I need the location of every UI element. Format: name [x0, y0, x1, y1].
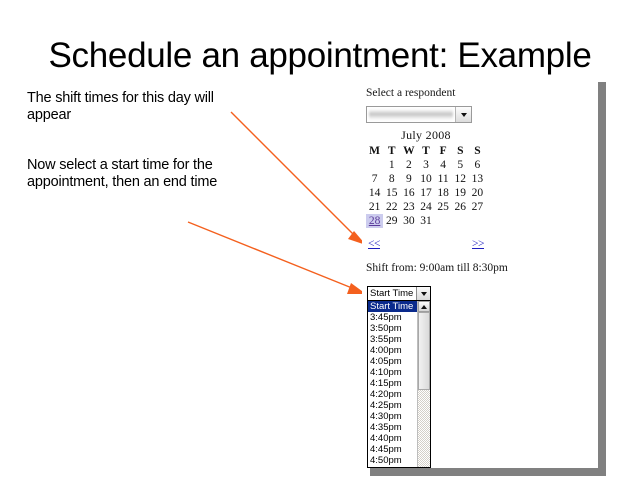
calendar-weekday: T — [383, 145, 400, 158]
respondent-label: Select a respondent — [366, 87, 455, 99]
calendar-day[interactable]: 13 — [469, 172, 486, 186]
calendar-caption: July 2008 — [366, 128, 486, 145]
calendar-table: M T W T F S S 1 2 3 4 5 6 — [366, 145, 486, 228]
list-item[interactable]: 4:10pm — [368, 367, 417, 378]
calendar-day[interactable] — [452, 214, 469, 228]
calendar-day-selected[interactable]: 28 — [366, 214, 383, 228]
calendar-weekday: M — [366, 145, 383, 158]
list-item[interactable]: 3:50pm — [368, 323, 417, 334]
calendar-day[interactable]: 6 — [469, 158, 486, 172]
chevron-down-glyph — [421, 292, 427, 296]
listbox-scrollbar[interactable] — [417, 301, 430, 467]
calendar-day[interactable]: 12 — [452, 172, 469, 186]
calendar-weekday-header-row: M T W T F S S — [366, 145, 486, 158]
calendar-week-row: 28 29 30 31 — [366, 214, 486, 228]
list-item[interactable]: 4:30pm — [368, 411, 417, 422]
list-item[interactable]: 4:35pm — [368, 422, 417, 433]
chevron-down-glyph — [461, 113, 467, 117]
arrow-to-start-time-select — [188, 222, 366, 294]
respondent-select[interactable] — [366, 106, 472, 123]
calendar-day[interactable]: 22 — [383, 200, 400, 214]
calendar-day[interactable] — [469, 214, 486, 228]
calendar-day[interactable] — [366, 158, 383, 172]
calendar-weekday: S — [452, 145, 469, 158]
calendar-weekday: S — [469, 145, 486, 158]
calendar-week-row: 1 2 3 4 5 6 — [366, 158, 486, 172]
calendar-day[interactable]: 10 — [417, 172, 434, 186]
calendar-day[interactable]: 20 — [469, 186, 486, 200]
scrollbar-thumb[interactable] — [418, 312, 430, 390]
calendar-weekday: W — [400, 145, 417, 158]
calendar-navigation: << >> — [368, 238, 484, 250]
list-item[interactable]: 4:45pm — [368, 444, 417, 455]
list-item[interactable]: 4:05pm — [368, 356, 417, 367]
panel-shadow-right — [598, 82, 606, 476]
calendar-next-link[interactable]: >> — [472, 238, 484, 250]
calendar-day[interactable]: 30 — [400, 214, 417, 228]
panel-shadow-bottom — [370, 468, 606, 476]
list-item[interactable]: 3:55pm — [368, 334, 417, 345]
calendar-day[interactable]: 27 — [469, 200, 486, 214]
calendar-day[interactable]: 14 — [366, 186, 383, 200]
list-item[interactable]: Start Time — [368, 301, 417, 312]
calendar-day[interactable]: 9 — [400, 172, 417, 186]
calendar-day[interactable]: 1 — [383, 158, 400, 172]
calendar-prev-link[interactable]: << — [368, 238, 380, 250]
list-item[interactable]: 4:50pm — [368, 455, 417, 466]
start-time-option-list: Start Time 3:45pm 3:50pm 3:55pm 4:00pm 4… — [368, 301, 417, 467]
calendar-day[interactable]: 7 — [366, 172, 383, 186]
calendar-day[interactable]: 3 — [417, 158, 434, 172]
chevron-up-glyph — [421, 305, 427, 309]
list-item[interactable]: 4:20pm — [368, 389, 417, 400]
annotation-select-start-time: Now select a start time for the appointm… — [27, 157, 247, 191]
calendar-widget: July 2008 M T W T F S S 1 2 3 — [366, 128, 486, 228]
list-item[interactable]: 3:45pm — [368, 312, 417, 323]
calendar-day[interactable]: 8 — [383, 172, 400, 186]
calendar-day[interactable]: 5 — [452, 158, 469, 172]
calendar-day[interactable]: 23 — [400, 200, 417, 214]
page-title: Schedule an appointment: Example — [0, 36, 640, 76]
calendar-day[interactable]: 15 — [383, 186, 400, 200]
calendar-day[interactable]: 26 — [452, 200, 469, 214]
respondent-selected-value — [369, 109, 453, 120]
chevron-up-icon[interactable] — [418, 301, 430, 312]
calendar-day[interactable]: 31 — [417, 214, 434, 228]
calendar-week-row: 14 15 16 17 18 19 20 — [366, 186, 486, 200]
list-item[interactable]: 4:15pm — [368, 378, 417, 389]
calendar-day-label: 28 — [369, 215, 381, 227]
calendar-day[interactable] — [435, 214, 452, 228]
list-item[interactable]: 4:40pm — [368, 433, 417, 444]
list-item[interactable]: 4:00pm — [368, 345, 417, 356]
list-item[interactable]: 4:25pm — [368, 400, 417, 411]
shift-hours-text: Shift from: 9:00am till 8:30pm — [366, 262, 508, 274]
calendar-day[interactable]: 29 — [383, 214, 400, 228]
list-item[interactable]: 4:55pm — [368, 466, 417, 467]
annotation-shift-times: The shift times for this day will appear — [27, 90, 242, 124]
start-time-listbox[interactable]: Start Time 3:45pm 3:50pm 3:55pm 4:00pm 4… — [367, 301, 431, 468]
calendar-day[interactable]: 11 — [435, 172, 452, 186]
chevron-down-icon[interactable] — [416, 287, 430, 300]
calendar-day[interactable]: 16 — [400, 186, 417, 200]
calendar-weekday: T — [417, 145, 434, 158]
calendar-week-row: 7 8 9 10 11 12 13 — [366, 172, 486, 186]
calendar-day[interactable]: 18 — [435, 186, 452, 200]
start-time-selected-value: Start Time — [368, 287, 416, 300]
calendar-day[interactable]: 17 — [417, 186, 434, 200]
app-screenshot-panel: Select a respondent July 2008 M T W T F … — [362, 82, 598, 468]
calendar-day[interactable]: 19 — [452, 186, 469, 200]
calendar-day[interactable]: 4 — [435, 158, 452, 172]
start-time-combobox[interactable]: Start Time — [367, 286, 431, 301]
arrow-to-calendar-nav — [231, 112, 366, 245]
calendar-day[interactable]: 21 — [366, 200, 383, 214]
calendar-day[interactable]: 24 — [417, 200, 434, 214]
calendar-weekday: F — [435, 145, 452, 158]
chevron-down-icon[interactable] — [455, 107, 471, 122]
calendar-day[interactable]: 2 — [400, 158, 417, 172]
calendar-day[interactable]: 25 — [435, 200, 452, 214]
calendar-week-row: 21 22 23 24 25 26 27 — [366, 200, 486, 214]
